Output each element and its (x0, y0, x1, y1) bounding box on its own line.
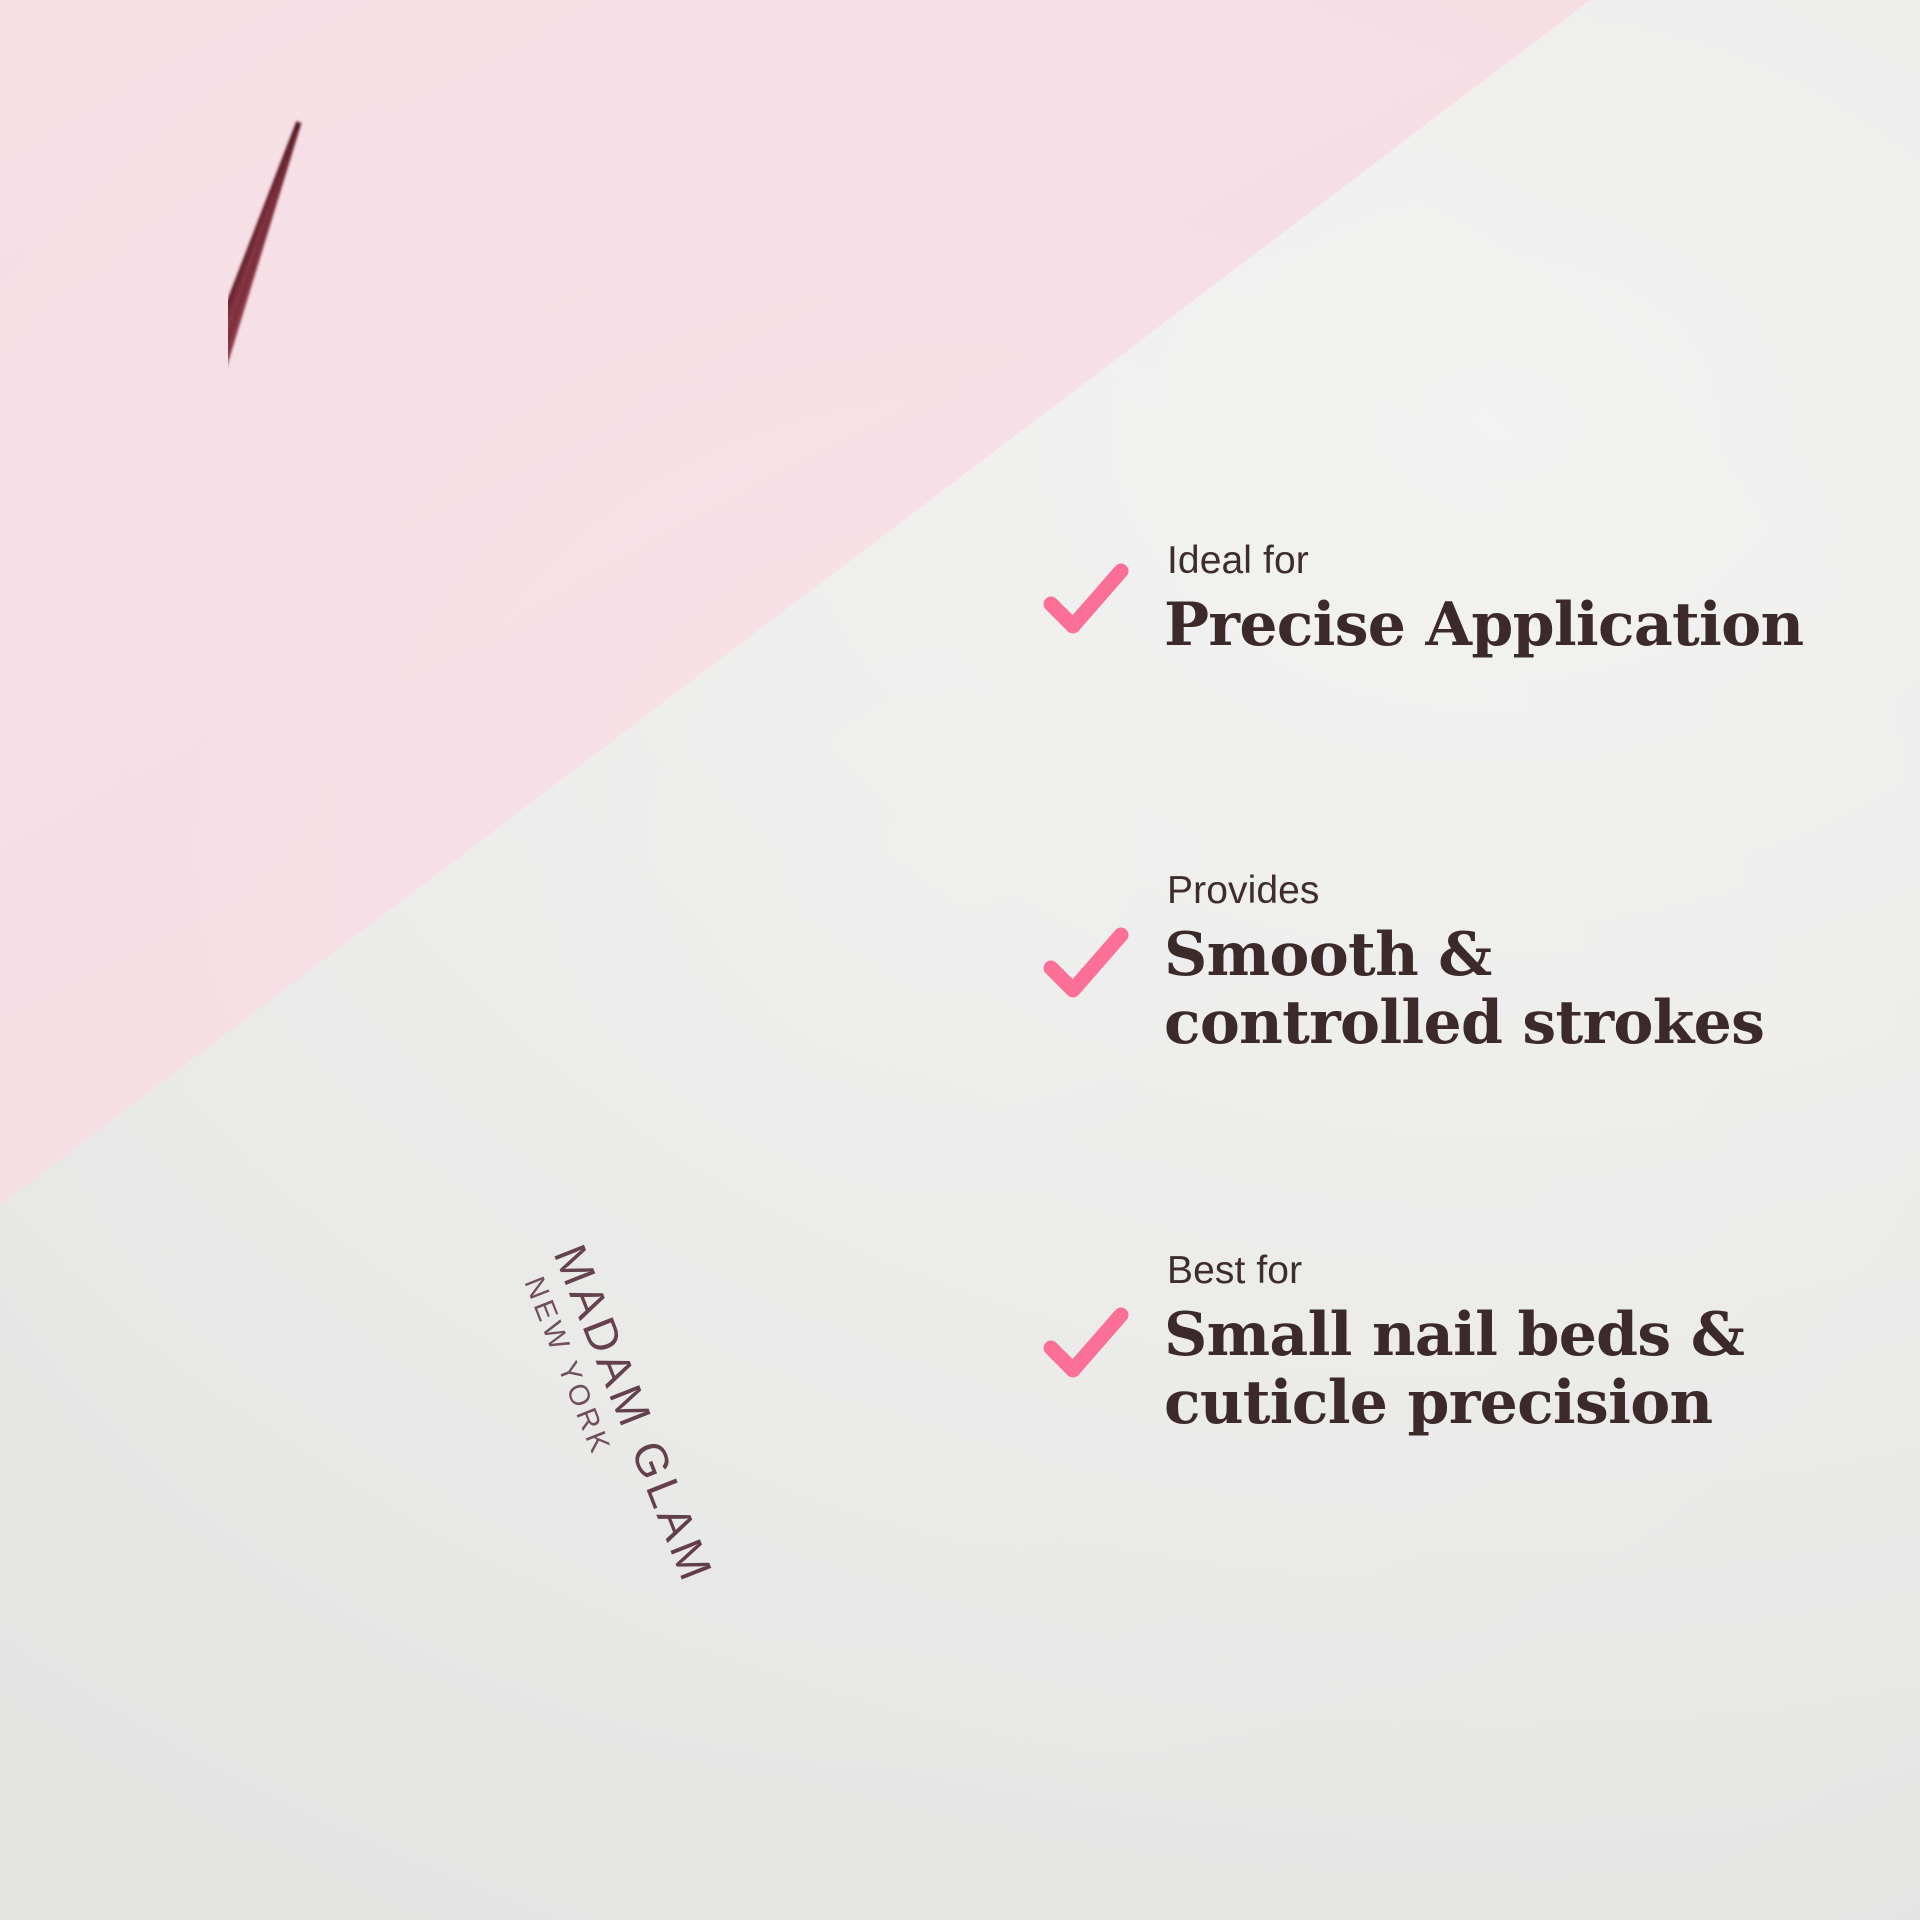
headline-line: cuticle precision (1164, 1370, 1860, 1438)
check-icon (1040, 554, 1132, 646)
feature-eyebrow: Provides (1167, 870, 1860, 911)
feature-eyebrow: Best for (1167, 1250, 1860, 1291)
check-icon (1040, 1298, 1132, 1390)
check-icon (1040, 918, 1132, 1010)
feature-text-block: Best for Small nail beds & cuticle preci… (1160, 1250, 1860, 1438)
feature-eyebrow: Ideal for (1167, 540, 1860, 581)
headline-line: Precise Application (1164, 592, 1860, 660)
feature-list: Ideal for Precise Application Provides S… (1040, 0, 1860, 1920)
feature-text-block: Ideal for Precise Application (1160, 540, 1860, 660)
headline-line: Small nail beds & (1164, 1302, 1860, 1370)
feature-headline: Smooth & controlled strokes (1164, 922, 1860, 1058)
feature-item-precise-application: Ideal for Precise Application (1040, 540, 1860, 660)
product-feature-card: MADAM GLAM NEW YORK Ideal for Precise Ap… (0, 0, 1920, 1920)
feature-headline: Small nail beds & cuticle precision (1164, 1302, 1860, 1438)
feature-item-smooth-controlled-strokes: Provides Smooth & controlled strokes (1040, 870, 1860, 1058)
headline-line: Smooth & (1164, 922, 1860, 990)
feature-text-block: Provides Smooth & controlled strokes (1160, 870, 1860, 1058)
feature-headline: Precise Application (1164, 592, 1860, 660)
headline-line: controlled strokes (1164, 990, 1860, 1058)
feature-item-small-nail-beds: Best for Small nail beds & cuticle preci… (1040, 1250, 1860, 1438)
